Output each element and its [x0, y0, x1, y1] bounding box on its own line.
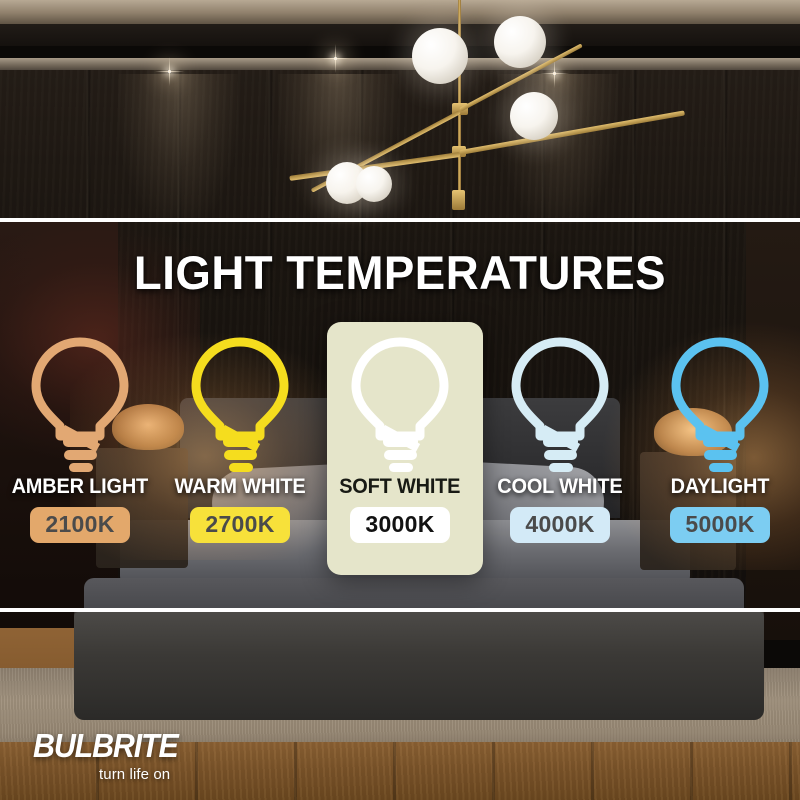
light-bulb-glyph — [346, 336, 454, 472]
kelvin-badge: 5000K — [670, 507, 769, 543]
light-bulb-glyph — [186, 336, 294, 472]
temperature-label: SOFT WHITE — [339, 476, 460, 498]
infographic-canvas: LIGHT TEMPERATURES AMBER LIGHT 2100K — [0, 0, 800, 800]
temperature-column-amber-light[interactable]: AMBER LIGHT 2100K — [0, 330, 160, 570]
temperature-column-cool-white[interactable]: COOL WHITE 4000K — [480, 330, 640, 570]
infographic-overlay: LIGHT TEMPERATURES AMBER LIGHT 2100K — [0, 0, 800, 800]
light-bulb-icon — [346, 330, 454, 476]
light-bulb-icon — [26, 330, 134, 476]
temperature-column-soft-white[interactable]: SOFT WHITE 3000K — [320, 330, 480, 570]
temperature-label: DAYLIGHT — [671, 476, 770, 498]
temperature-label: WARM WHITE — [174, 476, 305, 498]
light-bulb-glyph — [506, 336, 614, 472]
light-bulb-glyph — [666, 336, 774, 472]
temperature-label: COOL WHITE — [497, 476, 622, 498]
brand-wordmark: BULBRITE — [33, 729, 245, 762]
kelvin-badge: 4000K — [510, 507, 609, 543]
light-bulb-glyph — [26, 336, 134, 472]
kelvin-badge: 2700K — [190, 507, 289, 543]
kelvin-badge: 3000K — [350, 507, 449, 543]
light-bulb-icon — [666, 330, 774, 476]
temperature-scale: AMBER LIGHT 2100K WARM WHITE 2700K — [0, 330, 800, 570]
kelvin-badge: 2100K — [30, 507, 129, 543]
brand-tagline: turn life on — [99, 767, 263, 783]
temperature-label: AMBER LIGHT — [12, 476, 148, 498]
temperature-column-warm-white[interactable]: WARM WHITE 2700K — [160, 330, 320, 570]
temperature-column-daylight[interactable]: DAYLIGHT 5000K — [640, 330, 800, 570]
light-bulb-icon — [186, 330, 294, 476]
brand-logo[interactable]: BULBRITE turn life on — [33, 729, 263, 783]
light-bulb-icon — [506, 330, 614, 476]
page-title: LIGHT TEMPERATURES — [12, 249, 788, 296]
